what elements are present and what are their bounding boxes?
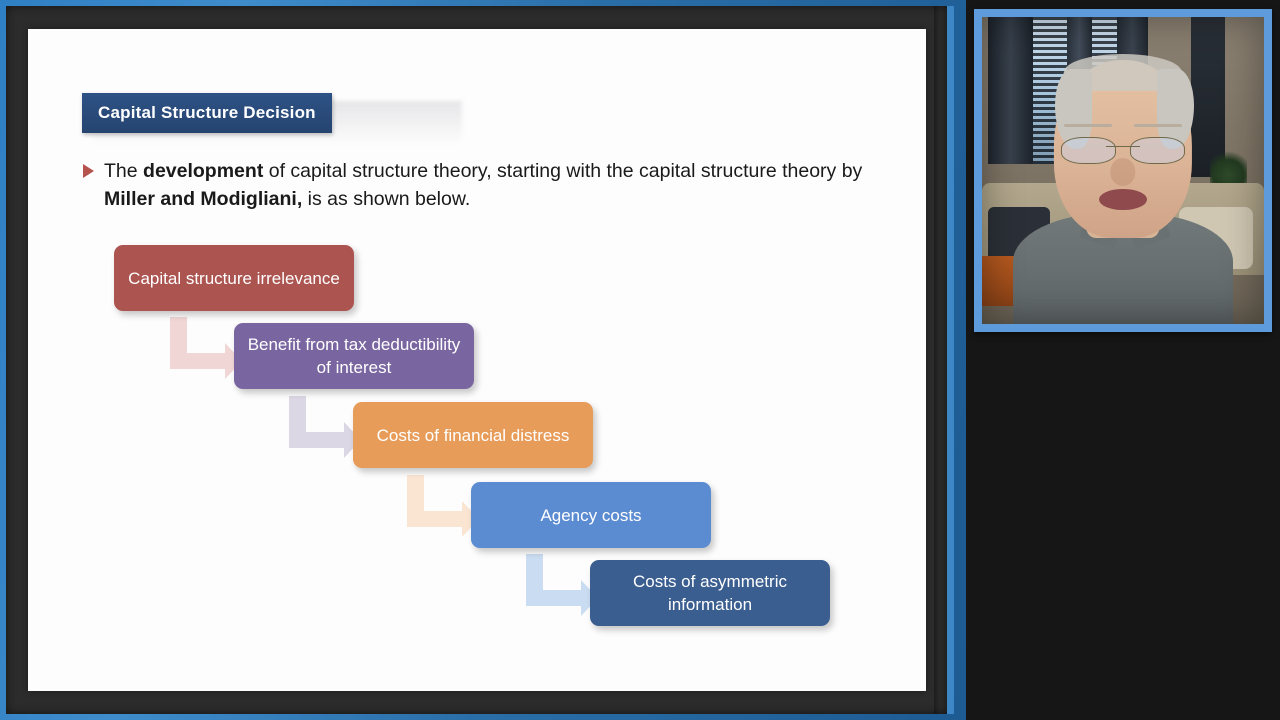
capital-structure-flow-diagram: Capital structure irrelevanceBenefit fro… (28, 29, 926, 691)
presenter-webcam-video[interactable] (982, 17, 1264, 324)
slide-viewer: Capital Structure Decision The developme… (0, 0, 966, 720)
flow-arrow-4 (522, 552, 600, 616)
flow-box-2: Benefit from tax deductibility of intere… (234, 323, 474, 389)
flow-box-4: Agency costs (471, 482, 711, 548)
presenter-video-card[interactable] (974, 9, 1272, 332)
flow-box-3: Costs of financial distress (353, 402, 593, 468)
flow-arrow-3 (403, 473, 481, 537)
flow-box-1: Capital structure irrelevance (114, 245, 354, 311)
flow-box-5: Costs of asymmetric information (590, 560, 830, 626)
flow-arrow-1 (166, 315, 244, 379)
flow-arrow-2 (285, 394, 363, 458)
slide-frame: Capital Structure Decision The developme… (6, 6, 954, 714)
presentation-player: Capital Structure Decision The developme… (0, 0, 1280, 720)
info-sidebar: Professor James Forjan PhD, CFA (966, 0, 1280, 720)
webcam-vignette (982, 17, 1264, 324)
slide-canvas: Capital Structure Decision The developme… (28, 29, 926, 691)
